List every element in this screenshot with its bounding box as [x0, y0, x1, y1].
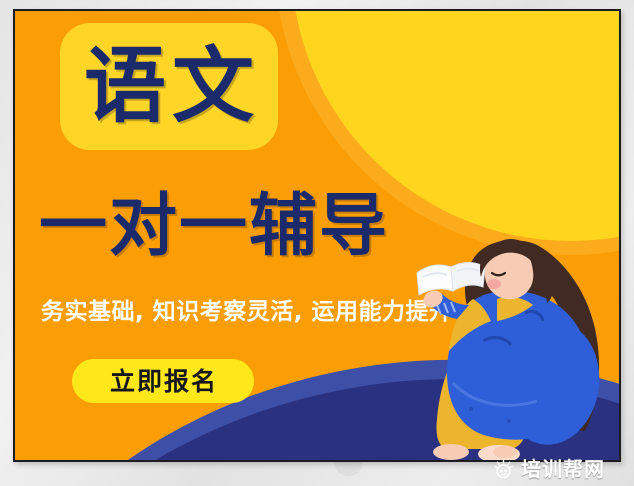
book-left-page: [417, 265, 453, 295]
watermark-text: 培训帮网: [521, 459, 605, 479]
cheek: [487, 279, 501, 289]
watermark: 培训帮网: [489, 456, 609, 482]
sun-face-icon: [493, 459, 514, 480]
poster-screenshot: 语文 一对一辅导 务实基础, 知识考察灵活, 运用能力提升 立即报名: [0, 0, 634, 486]
signup-button-label: 立即报名: [108, 369, 218, 394]
woman-reading-illustration: [413, 233, 621, 462]
subject-badge-label: 语文: [78, 46, 260, 128]
subject-badge: 语文: [60, 23, 278, 150]
foot-back: [433, 444, 469, 460]
signup-button[interactable]: 立即报名: [72, 359, 254, 403]
advertisement-poster: 语文 一对一辅导 务实基础, 知识考察灵活, 运用能力提升 立即报名: [13, 9, 621, 462]
poster-subtitle: 务实基础, 知识考察灵活, 运用能力提升: [41, 299, 453, 327]
